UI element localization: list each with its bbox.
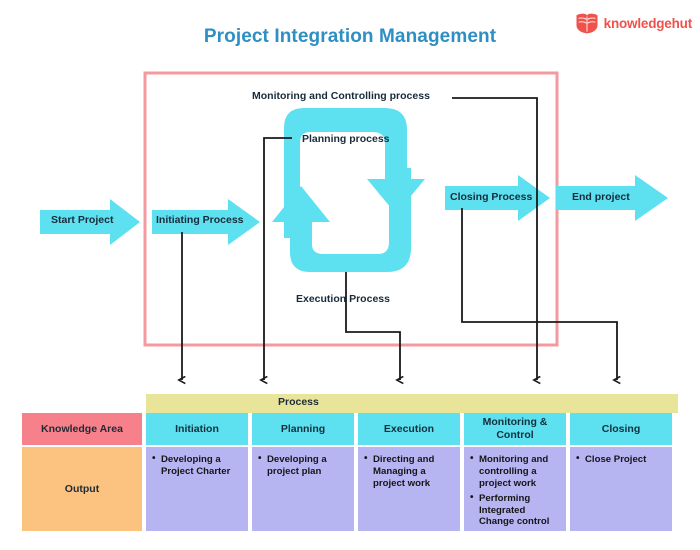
brand-logo: knowledgehut <box>575 12 692 34</box>
column-header-execution[interactable]: Execution <box>358 413 460 445</box>
matrix-header-row: Knowledge Area Initiation Planning Execu… <box>22 413 672 445</box>
execution-connector <box>346 272 400 380</box>
list-item: Close Project <box>576 454 646 466</box>
list-item: Performing Integrated Change control <box>470 493 562 529</box>
shield-book-icon <box>575 12 599 34</box>
list-item: Developing a Project Charter <box>152 454 244 478</box>
output-cell-planning: Developing a project plan <box>252 447 354 531</box>
matrix-output-row: Output Developing a Project Charter Deve… <box>22 447 672 531</box>
output-cell-execution: Directing and Managing a project work <box>358 447 460 531</box>
process-band <box>146 394 678 413</box>
end-project-label: End project <box>572 192 630 204</box>
list-item: Directing and Managing a project work <box>364 454 456 490</box>
output-cell-monitoring-control: Monitoring and controlling a project wor… <box>464 447 566 531</box>
column-header-initiation[interactable]: Initiation <box>146 413 248 445</box>
process-band-label: Process <box>278 396 319 408</box>
column-header-monitoring-control[interactable]: Monitoring & Control <box>464 413 566 445</box>
process-flow-diagram: Start Project Initiating Process Plannin… <box>0 60 700 390</box>
output-list-monitoring-control: Monitoring and controlling a project wor… <box>470 454 562 531</box>
column-header-planning[interactable]: Planning <box>252 413 354 445</box>
output-list-execution: Directing and Managing a project work <box>364 454 456 493</box>
execution-process-label: Execution Process <box>296 294 390 306</box>
list-item: Developing a project plan <box>258 454 350 478</box>
brand-name: knowledgehut <box>604 16 692 31</box>
output-list-closing: Close Project <box>576 454 646 469</box>
output-cell-initiation: Developing a Project Charter <box>146 447 248 531</box>
column-header-closing[interactable]: Closing <box>570 413 672 445</box>
start-project-label: Start Project <box>51 215 113 227</box>
monitoring-controlling-connector <box>452 98 537 380</box>
planning-process-label: Planning process <box>302 134 390 146</box>
row-label-knowledge-area: Knowledge Area <box>22 413 142 445</box>
closing-process-label: Closing Process <box>450 192 532 204</box>
output-list-initiation: Developing a Project Charter <box>152 454 244 481</box>
row-label-output: Output <box>22 447 142 531</box>
output-list-planning: Developing a project plan <box>258 454 350 481</box>
initiating-process-label: Initiating Process <box>156 215 244 227</box>
closing-connector <box>462 208 617 380</box>
list-item: Monitoring and controlling a project wor… <box>470 454 562 490</box>
monitoring-controlling-process-label: Monitoring and Controlling process <box>252 91 430 103</box>
output-cell-closing: Close Project <box>570 447 672 531</box>
